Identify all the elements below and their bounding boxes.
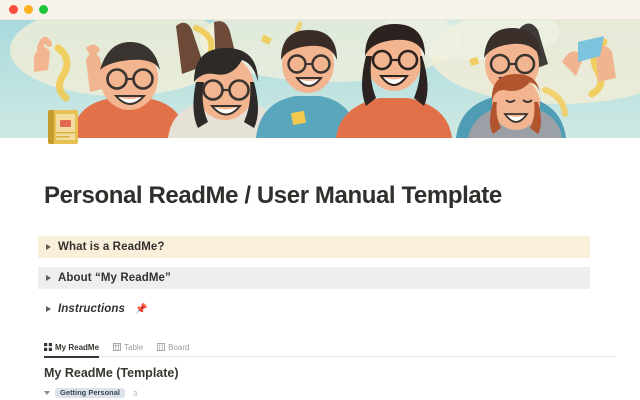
toggle-list: What is a ReadMe? About “My ReadMe” Inst… [44,236,616,320]
toggle-label: About “My ReadMe” [58,272,171,284]
page-title[interactable]: Personal ReadMe / User Manual Template [44,138,616,222]
pushpin-icon: 📌 [135,304,147,315]
banner-illustration [0,20,640,138]
tab-label: Board [168,343,189,352]
notebook-icon[interactable] [44,106,84,148]
gallery-icon [44,343,52,351]
window-close-button[interactable] [9,5,18,14]
window-titlebar [0,0,640,20]
page-content: Personal ReadMe / User Manual Template W… [0,138,640,320]
page-body: Personal ReadMe / User Manual Template W… [0,138,640,400]
board-group-header[interactable]: Getting Personal 3 [44,387,616,399]
toggle-label: What is a ReadMe? [58,241,165,253]
chevron-right-icon[interactable] [46,275,51,281]
tab-label: My ReadMe [55,343,99,352]
window-minimize-button[interactable] [24,5,33,14]
database-title[interactable]: My ReadMe (Template) [44,366,616,380]
chevron-down-icon[interactable] [44,391,50,395]
toggle-what-is-a-readme[interactable]: What is a ReadMe? [38,236,590,258]
page-cover-banner[interactable] [0,20,640,138]
table-icon [113,343,121,351]
database-view-tabs: My ReadMe Table Board [44,340,616,357]
inline-database: My ReadMe Table Board My ReadMe (Templat… [0,340,640,400]
toggle-instructions[interactable]: Instructions 📌 [38,298,590,320]
window-maximize-button[interactable] [39,5,48,14]
board-icon [157,343,165,351]
group-count: 3 [133,389,137,398]
chevron-right-icon[interactable] [46,306,51,312]
tab-board[interactable]: Board [157,340,189,357]
toggle-label: Instructions [58,303,125,315]
tab-table[interactable]: Table [113,340,143,357]
tab-label: Table [124,343,143,352]
tab-my-readme[interactable]: My ReadMe [44,340,99,357]
group-badge: Getting Personal [55,388,125,399]
chevron-right-icon[interactable] [46,244,51,250]
toggle-about-my-readme[interactable]: About “My ReadMe” [38,267,590,289]
